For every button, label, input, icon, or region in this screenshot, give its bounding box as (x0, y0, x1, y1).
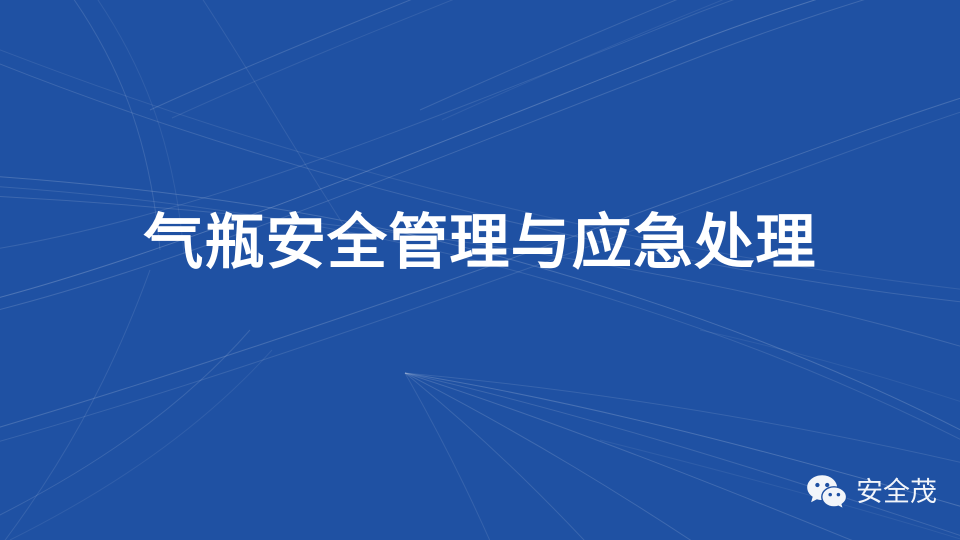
watermark-label: 安全茂 (856, 478, 937, 508)
wechat-icon (806, 473, 848, 513)
presentation-slide: 气瓶安全管理与应急处理 安全茂 (0, 0, 960, 540)
watermark: 安全茂 (806, 473, 937, 513)
page-title: 气瓶安全管理与应急处理 (0, 206, 960, 280)
